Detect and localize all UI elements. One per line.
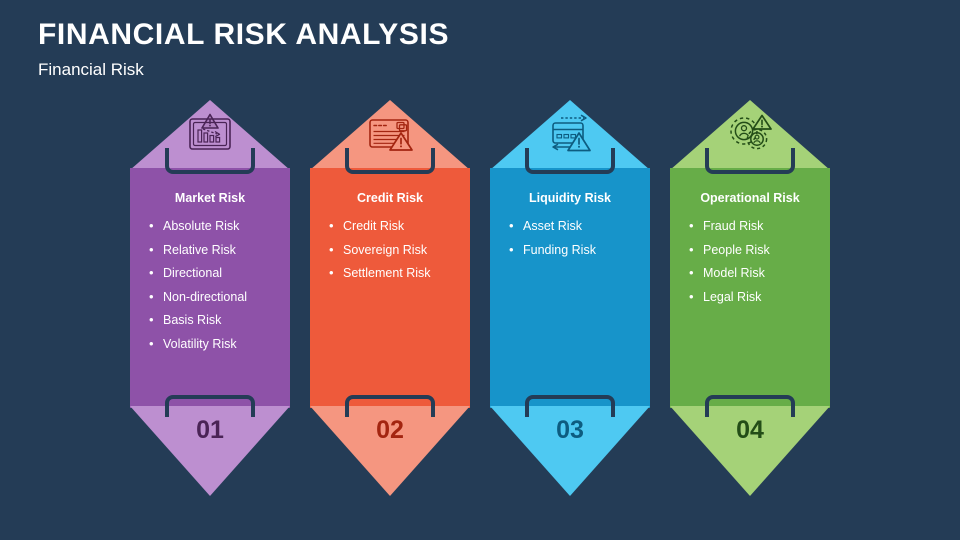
risk-column-liquidity-risk[interactable]: Liquidity Risk Asset Risk Funding Risk 0… [480, 100, 660, 500]
icon-bracket-top [525, 148, 615, 174]
risk-column-title: Operational Risk [666, 192, 834, 206]
risk-bullet-list: Credit Risk Sovereign Risk Settlement Ri… [328, 218, 468, 289]
risk-column-market-risk[interactable]: Market Risk Absolute Risk Relative Risk … [120, 100, 300, 500]
risk-bullet-list: Asset Risk Funding Risk [508, 218, 648, 265]
list-item: Basis Risk [148, 312, 288, 329]
risk-column-title: Market Risk [126, 192, 294, 206]
icon-bracket-top [345, 148, 435, 174]
list-item: Sovereign Risk [328, 242, 468, 259]
risk-bullet-list: Fraud Risk People Risk Model Risk Legal … [688, 218, 828, 312]
risk-column-title: Liquidity Risk [486, 192, 654, 206]
list-item: Settlement Risk [328, 265, 468, 282]
list-item: Model Risk [688, 265, 828, 282]
number-bracket-bottom [345, 395, 435, 417]
risk-columns: Market Risk Absolute Risk Relative Risk … [0, 0, 960, 540]
list-item: Relative Risk [148, 242, 288, 259]
list-item: Credit Risk [328, 218, 468, 235]
list-item: Legal Risk [688, 289, 828, 306]
icon-bracket-top [165, 148, 255, 174]
list-item: People Risk [688, 242, 828, 259]
risk-bullet-list: Absolute Risk Relative Risk Directional … [148, 218, 288, 359]
list-item: Asset Risk [508, 218, 648, 235]
slide-canvas: FINANCIAL RISK ANALYSIS Financial Risk [0, 0, 960, 540]
list-item: Non-directional [148, 289, 288, 306]
number-bracket-bottom [525, 395, 615, 417]
list-item: Funding Risk [508, 242, 648, 259]
list-item: Volatility Risk [148, 336, 288, 353]
icon-bracket-top [705, 148, 795, 174]
number-bracket-bottom [165, 395, 255, 417]
risk-column-operational-risk[interactable]: Operational Risk Fraud Risk People Risk … [660, 100, 840, 500]
risk-column-title: Credit Risk [306, 192, 474, 206]
list-item: Absolute Risk [148, 218, 288, 235]
list-item: Fraud Risk [688, 218, 828, 235]
step-number: 01 [130, 418, 290, 443]
risk-column-credit-risk[interactable]: Credit Risk Credit Risk Sovereign Risk S… [300, 100, 480, 500]
step-number: 03 [490, 418, 650, 443]
list-item: Directional [148, 265, 288, 282]
step-number: 04 [670, 418, 830, 443]
step-number: 02 [310, 418, 470, 443]
number-bracket-bottom [705, 395, 795, 417]
